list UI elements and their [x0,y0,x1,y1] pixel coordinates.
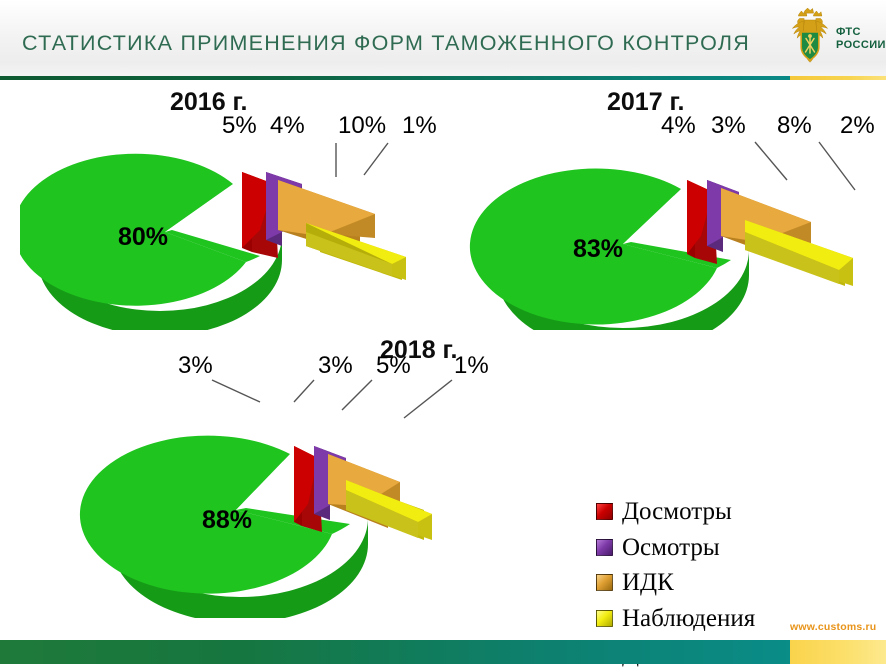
legend-label-dosmotry: Досмотры [622,499,732,524]
pie-label-2017-osmotry: 3% [711,112,746,140]
legend-label-osmotry: Осмотры [622,535,720,560]
pie-label-2016-nablyudeniya: 1% [402,112,437,140]
footer-website-link[interactable]: www.customs.ru [790,621,876,633]
fts-logo-line2: РОССИИ [836,39,886,52]
charts-stage: 2016 г. [0,80,886,620]
pie-chart-2018: 2018 г. [70,328,540,618]
pie-chart-2017: 2017 г. [455,80,885,330]
page-title: СТАТИСТИКА ПРИМЕНЕНИЯ ФОРМ ТАМОЖЕННОГО К… [22,31,750,56]
pie-chart-2016: 2016 г. [20,80,440,330]
legend-item-dosmotry[interactable]: Досмотры [596,494,876,530]
footer-bar-gold [790,640,886,664]
pie-label-2017-dt-bez-ftk: 83% [573,235,623,264]
pie-label-2018-dt-bez-ftk: 88% [202,506,252,535]
pie-label-2018-dosmotry: 3% [178,352,213,380]
legend-item-osmotry[interactable]: Осмотры [596,530,876,566]
fts-eagle-emblem-icon [786,8,834,70]
pie-label-2017-nablyudeniya: 2% [840,112,875,140]
footer-bar-green [0,640,790,664]
page-header: СТАТИСТИКА ПРИМЕНЕНИЯ ФОРМ ТАМОЖЕННОГО К… [0,0,886,80]
legend-swatch-dosmotry [596,503,613,520]
fts-logo-line1: ФТС [836,26,886,39]
page-footer: www.customs.ru [0,620,886,664]
footer-bar [0,640,886,664]
legend-label-idk: ИДК [622,570,674,595]
pie-label-2017-dosmotry: 4% [661,112,696,140]
pie-label-2016-osmotry: 4% [270,112,305,140]
pie-label-2018-idk: 5% [376,352,411,380]
fts-logo-text: ФТС РОССИИ [836,26,886,51]
legend-swatch-idk [596,574,613,591]
legend-swatch-osmotry [596,539,613,556]
pie-label-2017-idk: 8% [777,112,812,140]
pie-label-2016-dt-bez-ftk: 80% [118,223,168,252]
pie-label-2016-idk: 10% [338,112,386,140]
legend-item-idk[interactable]: ИДК [596,565,876,601]
pie-label-2018-nablyudeniya: 1% [454,352,489,380]
pie-label-2018-osmotry: 3% [318,352,353,380]
fts-logo: ФТС РОССИИ [786,8,880,70]
pie-label-2016-dosmotry: 5% [222,112,257,140]
